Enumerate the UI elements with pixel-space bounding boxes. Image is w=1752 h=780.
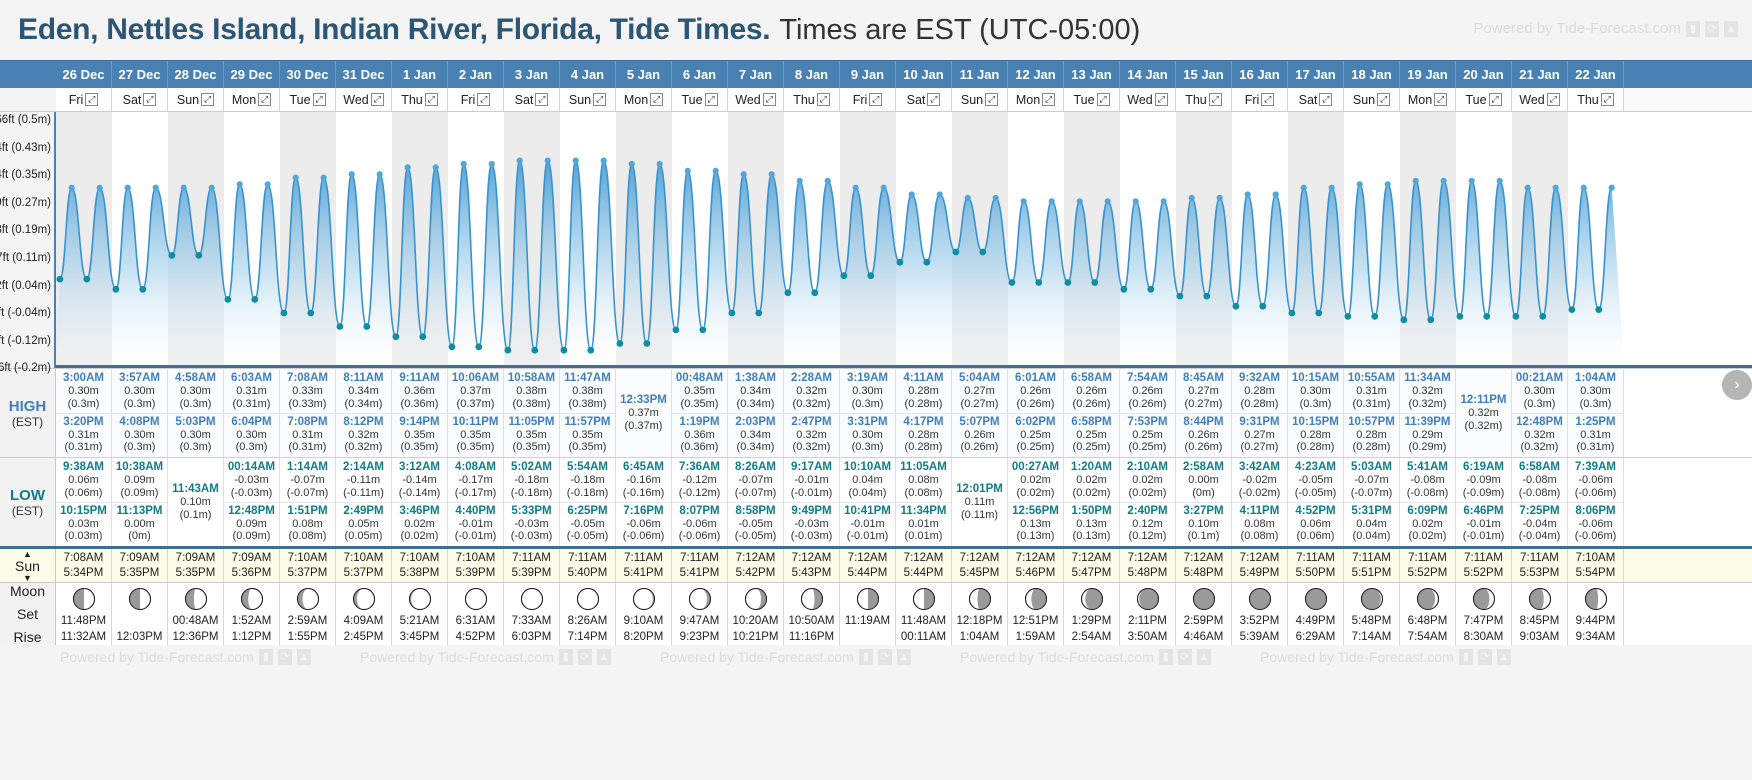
high-tide-cell[interactable]: 10:58AM0.38m(0.38m)11:05PM0.35m(0.35m) [504, 369, 560, 457]
expand-icon[interactable]: ⤢ [985, 93, 998, 106]
high-tide-height: 0.27m [1232, 429, 1287, 442]
expand-icon[interactable]: ⤢ [1042, 93, 1055, 106]
expand-icon[interactable]: ⤢ [425, 93, 438, 106]
date-header-cell[interactable]: 3 Jan [504, 61, 560, 88]
low-tide-height-alt: (0.04m) [840, 487, 895, 500]
sun-cell: 7:11AM5:53PM [1512, 549, 1568, 582]
high-tide-height: 0.35m [392, 429, 447, 442]
low-tide-cell[interactable]: 5:54AM-0.18m(-0.18m)6:25PM-0.05m(-0.05m) [560, 458, 616, 546]
expand-icon[interactable]: ⤢ [650, 93, 663, 106]
low-tide-event: 9:49PM-0.03m(-0.03m) [784, 503, 839, 546]
moonset-label: Set [17, 606, 38, 622]
high-tide-label: HIGH (EST) [0, 369, 56, 457]
low-tide-time: 1:50PM [1064, 505, 1119, 518]
expand-icon[interactable]: ⤢ [1547, 93, 1560, 106]
low-tide-height-alt: (-0.05m) [728, 530, 783, 543]
low-tide-height: 0.02m [1064, 474, 1119, 487]
moonset-time: 6:31AM [456, 615, 496, 627]
low-tide-height: 0.03m [56, 518, 111, 531]
high-tide-time: 8:44PM [1176, 416, 1231, 429]
low-tide-height: -0.01m [448, 518, 503, 531]
date-header-cell[interactable]: 1 Jan [392, 61, 448, 88]
moonrise-time: 8:20PM [624, 631, 664, 643]
expand-icon[interactable]: ⤢ [1601, 93, 1614, 106]
low-tide-cell[interactable]: 00:14AM-0.03m(-0.03m)12:48PM0.09m(0.09m) [224, 458, 280, 546]
high-tide-height-alt: (0.32m) [1512, 441, 1567, 454]
high-tide-cell[interactable]: 11:47AM0.38m(0.38m)11:57PM0.35m(0.35m) [560, 369, 616, 457]
low-tide-event: 3:12AM-0.14m(-0.14m) [392, 459, 447, 503]
expand-icon[interactable]: ⤢ [85, 93, 98, 106]
date-header-cell[interactable]: 31 Dec [336, 61, 392, 88]
high-tide-cell[interactable]: 10:55AM0.31m(0.31m)10:57PM0.28m(0.28m) [1344, 369, 1400, 457]
low-tide-time: 6:25PM [560, 505, 615, 518]
moon-cell: 00:48AM12:36PM [168, 583, 224, 645]
high-tide-cell[interactable]: 3:57AM0.30m(0.3m)4:08PM0.30m(0.3m) [112, 369, 168, 457]
day-of-week-cell[interactable]: Mon⤢ [1008, 88, 1064, 111]
low-tide-height: -0.09m [1456, 474, 1511, 487]
low-tide-event: 9:17AM-0.01m(-0.01m) [784, 459, 839, 503]
sunset-time: 5:54PM [1576, 567, 1616, 579]
high-tide-cell[interactable]: 9:32AM0.28m(0.28m)9:31PM0.27m(0.27m) [1232, 369, 1288, 457]
day-of-week-label: Thu [1577, 93, 1599, 107]
high-tide-cell[interactable]: 10:06AM0.37m(0.37m)10:11PM0.35m(0.35m) [448, 369, 504, 457]
moonset-time: 2:11PM [1128, 615, 1167, 627]
date-header-cell[interactable]: 16 Jan [1232, 61, 1288, 88]
high-tide-event: 6:01AM0.26m(0.26m) [1008, 370, 1063, 414]
expand-icon[interactable]: ⤢ [763, 93, 776, 106]
moon-phase-icon [1416, 587, 1440, 611]
day-of-week-cell[interactable]: Mon⤢ [1400, 88, 1456, 111]
day-of-week-label: Fri [461, 93, 476, 107]
high-tide-time: 5:07PM [952, 416, 1007, 429]
expand-icon[interactable]: ⤢ [1489, 93, 1502, 106]
low-tide-event: 3:46PM0.02m(0.02m) [392, 503, 447, 546]
low-tide-height-alt: (-0.06m) [672, 530, 727, 543]
low-tide-height-alt: (-0.06m) [1568, 487, 1623, 500]
sun-cell: 7:10AM5:37PM [336, 549, 392, 582]
moonrise-time: 11:16PM [789, 631, 834, 643]
low-tide-time: 2:40PM [1120, 505, 1175, 518]
day-of-week-cell[interactable]: Wed⤢ [336, 88, 392, 111]
date-header-cell[interactable]: 14 Jan [1120, 61, 1176, 88]
sunrise-time: 7:11AM [512, 552, 551, 564]
moon-phase-icon [1360, 587, 1384, 611]
low-tide-cell[interactable]: 6:19AM-0.09m(-0.09m)6:46PM-0.01m(-0.01m) [1456, 458, 1512, 546]
low-tide-height: 0.02m [1400, 518, 1455, 531]
high-tide-event: 3:57AM0.30m(0.3m) [112, 370, 167, 414]
high-tide-height-alt: (0.36m) [672, 441, 727, 454]
sun-label: ▲ Sun ▼ [0, 549, 56, 582]
high-tide-event: 00:48AM0.35m(0.35m) [672, 370, 727, 414]
sun-cell: 7:12AM5:48PM [1120, 549, 1176, 582]
high-tide-cell[interactable]: 2:28AM0.32m(0.32m)2:47PM0.32m(0.32m) [784, 369, 840, 457]
high-tide-time: 3:19AM [840, 372, 895, 385]
date-header-cell[interactable]: 18 Jan [1344, 61, 1400, 88]
date-header-cell[interactable]: 11 Jan [952, 61, 1008, 88]
expand-icon[interactable]: ⤢ [535, 93, 548, 106]
moonset-time: 3:52PM [1240, 615, 1280, 627]
date-header-cell[interactable]: 12 Jan [1008, 61, 1064, 88]
expand-icon[interactable]: ⤢ [1209, 93, 1222, 106]
moonset-time: 8:26AM [568, 615, 608, 627]
low-tide-cell[interactable]: 9:38AM0.06m(0.06m)10:15PM0.03m(0.03m) [56, 458, 112, 546]
moonrise-time: 3:45PM [400, 631, 440, 643]
expand-icon[interactable]: ⤢ [1434, 93, 1447, 106]
low-tide-cell[interactable]: 7:39AM-0.06m(-0.06m)8:06PM-0.06m(-0.06m) [1568, 458, 1624, 546]
low-tide-cell[interactable]: 2:10AM0.02m(0.02m)2:40PM0.12m(0.12m) [1120, 458, 1176, 546]
low-tide-cell[interactable]: 11:05AM0.08m(0.08m)11:34PM0.01m(0.01m) [896, 458, 952, 546]
high-tide-cell[interactable]: 10:15AM0.30m(0.3m)10:15PM0.28m(0.28m) [1288, 369, 1344, 457]
sunset-time: 5:40PM [568, 567, 608, 579]
day-of-week-cell[interactable]: Thu⤢ [1568, 88, 1624, 111]
moon-phase-icon [576, 587, 600, 611]
low-tide-event: 10:10AM0.04m(0.04m) [840, 459, 895, 503]
low-tide-event: 11:43AM0.10m(0.1m) [168, 481, 223, 524]
high-tide-height: 0.26m [1176, 429, 1231, 442]
y-axis-tick-label: 1.14ft (0.35m) [0, 169, 51, 181]
low-tide-time: 3:46PM [392, 505, 447, 518]
date-header-cell[interactable]: 15 Jan [1176, 61, 1232, 88]
high-tide-height: 0.26m [1064, 385, 1119, 398]
high-tide-height-alt: (0.25m) [1064, 441, 1119, 454]
low-tide-height: 0.06m [56, 474, 111, 487]
moonrise-time: 1:12PM [232, 631, 272, 643]
low-tide-height-alt: (-0.03m) [784, 530, 839, 543]
moon-phase-icon [912, 587, 936, 611]
low-tide-cell[interactable]: 6:45AM-0.16m(-0.16m)7:16PM-0.06m(-0.06m) [616, 458, 672, 546]
moon-phase-icon [856, 587, 880, 611]
expand-icon[interactable]: ⤢ [593, 93, 606, 106]
moonset-time: 5:21AM [400, 615, 440, 627]
low-tide-cell[interactable]: 10:38AM0.09m(0.09m)11:13PM0.00m(0m) [112, 458, 168, 546]
high-tide-cell[interactable]: 6:01AM0.26m(0.26m)6:02PM0.25m(0.25m) [1008, 369, 1064, 457]
expand-icon[interactable]: ⤢ [1377, 93, 1390, 106]
date-header-cell[interactable]: 9 Jan [840, 61, 896, 88]
high-tide-time: 00:48AM [672, 372, 727, 385]
expand-icon[interactable]: ⤢ [1097, 93, 1110, 106]
date-header-cell[interactable]: 10 Jan [896, 61, 952, 88]
scroll-next-button[interactable]: › [1722, 370, 1752, 400]
sun-cell: 7:12AM5:48PM [1176, 549, 1232, 582]
low-tide-time: 5:31PM [1344, 505, 1399, 518]
low-tide-time: 2:10AM [1120, 461, 1175, 474]
high-tide-row: HIGH (EST) 3:00AM0.30m(0.3m)3:20PM0.31m(… [0, 368, 1752, 457]
sunset-time: 5:52PM [1464, 567, 1504, 579]
high-tide-label-text: HIGH [9, 398, 47, 415]
low-tide-cell[interactable]: 7:36AM-0.12m(-0.12m)8:07PM-0.06m(-0.06m) [672, 458, 728, 546]
date-header-cell[interactable]: 30 Dec [280, 61, 336, 88]
low-tide-height: 0.11m [952, 496, 1007, 509]
high-tide-cell[interactable]: 8:11AM0.34m(0.34m)8:12PM0.32m(0.32m) [336, 369, 392, 457]
high-tide-time: 8:12PM [336, 416, 391, 429]
low-tide-time: 2:58AM [1176, 461, 1231, 474]
high-tide-event: 8:11AM0.34m(0.34m) [336, 370, 391, 414]
date-header-cell[interactable]: 19 Jan [1400, 61, 1456, 88]
low-tide-height-alt: (0.05m) [336, 530, 391, 543]
moonrise-time: 5:39AM [1240, 631, 1280, 643]
low-tide-cell[interactable]: 3:12AM-0.14m(-0.14m)3:46PM0.02m(0.02m) [392, 458, 448, 546]
high-tide-cell[interactable]: 12:11PM0.32m(0.32m) [1456, 369, 1512, 457]
low-tide-time: 5:41AM [1400, 461, 1455, 474]
high-tide-height-alt: (0.3m) [56, 398, 111, 411]
day-of-week-cell[interactable]: Sun⤢ [1344, 88, 1400, 111]
sunset-time: 5:45PM [960, 567, 1000, 579]
day-of-week-label: Sat [1299, 93, 1318, 107]
low-tide-cell[interactable]: 8:26AM-0.07m(-0.07m)8:58PM-0.05m(-0.05m) [728, 458, 784, 546]
moonrise-time: 2:45PM [344, 631, 384, 643]
day-of-week-cell[interactable]: Fri⤢ [448, 88, 504, 111]
high-tide-cell[interactable]: 3:19AM0.30m(0.3m)3:31PM0.30m(0.3m) [840, 369, 896, 457]
expand-icon[interactable]: ⤢ [313, 93, 326, 106]
date-header-cell[interactable]: 5 Jan [616, 61, 672, 88]
high-tide-event: 10:15PM0.28m(0.28m) [1288, 414, 1343, 457]
high-tide-height-alt: (0.27m) [952, 398, 1007, 411]
date-header-cell[interactable]: 26 Dec [56, 61, 112, 88]
day-of-week-label: Sun [961, 93, 983, 107]
day-of-week-cell[interactable]: Sun⤢ [168, 88, 224, 111]
expand-icon[interactable]: ⤢ [201, 93, 214, 106]
chart-plot-area[interactable] [56, 112, 1752, 368]
high-tide-height: 0.28m [1288, 429, 1343, 442]
high-tide-event: 11:05PM0.35m(0.35m) [504, 414, 559, 457]
day-of-week-cell[interactable]: Fri⤢ [1232, 88, 1288, 111]
expand-icon[interactable]: ⤢ [143, 93, 156, 106]
low-tide-cell[interactable]: 00:27AM0.02m(0.02m)12:56PM0.13m(0.13m) [1008, 458, 1064, 546]
high-tide-cell[interactable]: 00:48AM0.35m(0.35m)1:19PM0.36m(0.36m) [672, 369, 728, 457]
day-of-week-cell[interactable]: Fri⤢ [840, 88, 896, 111]
warning-icon: ▲ [597, 649, 611, 665]
day-of-week-cell[interactable]: Wed⤢ [1120, 88, 1176, 111]
day-of-week-cell[interactable]: Thu⤢ [1176, 88, 1232, 111]
chart-icon: ▮ [259, 649, 273, 665]
low-tide-cell[interactable]: 1:20AM0.02m(0.02m)1:50PM0.13m(0.13m) [1064, 458, 1120, 546]
day-of-week-cell[interactable]: Mon⤢ [224, 88, 280, 111]
day-of-week-cell[interactable]: Tue⤢ [280, 88, 336, 111]
low-tide-event: 12:48PM0.09m(0.09m) [224, 503, 279, 546]
high-tide-time: 9:32AM [1232, 372, 1287, 385]
high-tide-height: 0.30m [112, 385, 167, 398]
low-tide-cell[interactable]: 9:17AM-0.01m(-0.01m)9:49PM-0.03m(-0.03m) [784, 458, 840, 546]
high-tide-event: 1:25PM0.31m(0.31m) [1568, 414, 1623, 457]
low-tide-cell[interactable]: 5:03AM-0.07m(-0.07m)5:31PM0.04m(0.04m) [1344, 458, 1400, 546]
date-header-cell[interactable]: 6 Jan [672, 61, 728, 88]
moonset-time: 11:48PM [61, 615, 106, 627]
date-header-cell[interactable]: 28 Dec [168, 61, 224, 88]
day-of-week-cell[interactable]: Sat⤢ [112, 88, 168, 111]
expand-icon[interactable]: ⤢ [1319, 93, 1332, 106]
date-header-cell[interactable]: 20 Jan [1456, 61, 1512, 88]
expand-icon[interactable]: ⤢ [258, 93, 271, 106]
day-of-week-cell[interactable]: Mon⤢ [616, 88, 672, 111]
day-of-week-cell[interactable]: Sat⤢ [504, 88, 560, 111]
day-of-week-cell[interactable]: Tue⤢ [1456, 88, 1512, 111]
moon-phase-icon [408, 587, 432, 611]
sunset-time: 5:43PM [792, 567, 832, 579]
high-tide-cell[interactable]: 4:58AM0.30m(0.3m)5:03PM0.30m(0.3m) [168, 369, 224, 457]
low-tide-height: -0.01m [840, 518, 895, 531]
refresh-icon: ⟳ [278, 649, 292, 665]
high-tide-height: 0.30m [168, 429, 223, 442]
high-tide-cell[interactable]: 8:45AM0.27m(0.27m)8:44PM0.26m(0.26m) [1176, 369, 1232, 457]
date-header-cell[interactable]: 13 Jan [1064, 61, 1120, 88]
sunset-time: 5:41PM [680, 567, 720, 579]
powered-by-watermark: Powered by Tide-Forecast.com▮⟳▲ [660, 649, 911, 665]
low-tide-height-alt: (-0.08m) [1400, 487, 1455, 500]
date-header-cell[interactable]: 17 Jan [1288, 61, 1344, 88]
low-tide-cell[interactable]: 5:02AM-0.18m(-0.18m)5:33PM-0.03m(-0.03m) [504, 458, 560, 546]
high-tide-cell[interactable]: 4:11AM0.28m(0.28m)4:17PM0.28m(0.28m) [896, 369, 952, 457]
high-tide-height-alt: (0.3m) [1568, 398, 1623, 411]
high-tide-height-alt: (0.26m) [1064, 398, 1119, 411]
low-tide-cell[interactable]: 10:10AM0.04m(0.04m)10:41PM-0.01m(-0.01m) [840, 458, 896, 546]
high-tide-time: 4:17PM [896, 416, 951, 429]
warning-icon: ▲ [1197, 649, 1211, 665]
date-header-cell[interactable]: 8 Jan [784, 61, 840, 88]
low-tide-height: 0.08m [896, 474, 951, 487]
moonset-time: 5:48PM [1352, 615, 1392, 627]
low-tide-cell[interactable]: 6:58AM-0.08m(-0.08m)7:25PM-0.04m(-0.04m) [1512, 458, 1568, 546]
sunset-time: 5:51PM [1352, 567, 1392, 579]
sunset-time: 5:52PM [1408, 567, 1448, 579]
low-tide-event: 2:49PM0.05m(0.05m) [336, 503, 391, 546]
moon-cell: 3:52PM5:39AM [1232, 583, 1288, 645]
high-tide-height: 0.31m [1344, 385, 1399, 398]
low-tide-cell[interactable]: 4:08AM-0.17m(-0.17m)4:40PM-0.01m(-0.01m) [448, 458, 504, 546]
low-tide-height: 0.08m [1232, 518, 1287, 531]
low-tide-cell[interactable]: 3:42AM-0.02m(-0.02m)4:11PM0.08m(0.08m) [1232, 458, 1288, 546]
day-of-week-cell[interactable]: Thu⤢ [392, 88, 448, 111]
low-tide-height-alt: (0.02m) [1400, 530, 1455, 543]
warning-icon: ▲ [1497, 649, 1511, 665]
low-tide-time: 3:27PM [1176, 505, 1231, 518]
low-tide-height-alt: (0.02m) [1120, 487, 1175, 500]
low-tide-cell[interactable]: 2:58AM0.00m(0m)3:27PM0.10m(0.1m) [1176, 458, 1232, 546]
low-tide-event: 6:45AM-0.16m(-0.16m) [616, 459, 671, 503]
date-header-cell[interactable]: 21 Jan [1512, 61, 1568, 88]
date-header-cell[interactable]: 4 Jan [560, 61, 616, 88]
moon-cell: 11:48PM11:32AM [56, 583, 112, 645]
high-tide-cell[interactable]: 3:00AM0.30m(0.3m)3:20PM0.31m(0.31m) [56, 369, 112, 457]
day-of-week-cell[interactable]: Tue⤢ [1064, 88, 1120, 111]
day-of-week-cell[interactable]: Fri⤢ [56, 88, 112, 111]
low-tide-height-alt: (-0.16m) [616, 487, 671, 500]
moon-cell: 5:21AM3:45PM [392, 583, 448, 645]
high-tide-cell[interactable]: 5:04AM0.27m(0.27m)5:07PM0.26m(0.26m) [952, 369, 1008, 457]
high-tide-time: 00:21AM [1512, 372, 1567, 385]
low-tide-height-alt: (0m) [1176, 487, 1231, 500]
tide-forecast-page: Eden, Nettles Island, Indian River, Flor… [0, 0, 1752, 780]
moon-phase-icon [968, 587, 992, 611]
high-tide-time: 5:03PM [168, 416, 223, 429]
low-tide-cell[interactable]: 12:01PM0.11m(0.11m) [952, 458, 1008, 546]
expand-icon[interactable]: ⤢ [705, 93, 718, 106]
low-tide-cell[interactable]: 4:23AM-0.05m(-0.05m)4:52PM0.06m(0.06m) [1288, 458, 1344, 546]
expand-icon[interactable]: ⤢ [817, 93, 830, 106]
date-header-cell[interactable]: 7 Jan [728, 61, 784, 88]
low-tide-height-alt: (-0.08m) [1512, 487, 1567, 500]
low-tide-event: 5:33PM-0.03m(-0.03m) [504, 503, 559, 546]
low-tide-cell[interactable]: 5:41AM-0.08m(-0.08m)6:09PM0.02m(0.02m) [1400, 458, 1456, 546]
low-tide-event: 7:25PM-0.04m(-0.04m) [1512, 503, 1567, 546]
day-of-week-cell[interactable]: Wed⤢ [1512, 88, 1568, 111]
low-tide-height-alt: (-0.01m) [448, 530, 503, 543]
sunrise-time: 7:10AM [288, 552, 328, 564]
high-tide-cell[interactable]: 1:38AM0.34m(0.34m)2:03PM0.34m(0.34m) [728, 369, 784, 457]
low-tide-cell[interactable]: 11:43AM0.10m(0.1m) [168, 458, 224, 546]
expand-icon[interactable]: ⤢ [1261, 93, 1274, 106]
high-tide-event: 10:11PM0.35m(0.35m) [448, 414, 503, 457]
tide-curve [56, 112, 1624, 365]
high-tide-cell[interactable]: 12:33PM0.37m(0.37m) [616, 369, 672, 457]
day-of-week-cell[interactable]: Tue⤢ [672, 88, 728, 111]
low-tide-height: 0.10m [1176, 518, 1231, 531]
high-tide-cell[interactable]: 7:08AM0.33m(0.33m)7:08PM0.31m(0.31m) [280, 369, 336, 457]
day-of-week-cell[interactable]: Sat⤢ [1288, 88, 1344, 111]
sunset-time: 5:38PM [400, 567, 440, 579]
low-tide-height-alt: (-0.09m) [1456, 487, 1511, 500]
expand-icon[interactable]: ⤢ [869, 93, 882, 106]
high-tide-height: 0.26m [1008, 385, 1063, 398]
high-tide-cell[interactable]: 6:03AM0.31m(0.31m)6:04PM0.30m(0.3m) [224, 369, 280, 457]
sun-cell: 7:10AM5:39PM [448, 549, 504, 582]
low-tide-height-alt: (-0.17m) [448, 487, 503, 500]
sun-cell: 7:12AM5:46PM [1008, 549, 1064, 582]
sun-cell: 7:09AM5:36PM [224, 549, 280, 582]
high-tide-cell[interactable]: 11:34AM0.32m(0.32m)11:39PM0.29m(0.29m) [1400, 369, 1456, 457]
high-tide-time: 4:11AM [896, 372, 951, 385]
sunset-time: 5:36PM [232, 567, 272, 579]
high-tide-height: 0.38m [560, 385, 615, 398]
sunset-time: 5:35PM [176, 567, 216, 579]
date-header-cell[interactable]: 2 Jan [448, 61, 504, 88]
low-tide-event: 3:42AM-0.02m(-0.02m) [1232, 459, 1287, 503]
day-of-week-cell[interactable]: Wed⤢ [728, 88, 784, 111]
high-tide-cell[interactable]: 7:54AM0.26m(0.26m)7:53PM0.25m(0.25m) [1120, 369, 1176, 457]
expand-icon[interactable]: ⤢ [477, 93, 490, 106]
high-tide-time: 12:33PM [616, 394, 671, 407]
low-tide-height-alt: (-0.05m) [1288, 487, 1343, 500]
high-tide-cell[interactable]: 6:58AM0.26m(0.26m)6:58PM0.25m(0.25m) [1064, 369, 1120, 457]
expand-icon[interactable]: ⤢ [371, 93, 384, 106]
expand-icon[interactable]: ⤢ [1155, 93, 1168, 106]
high-tide-height-alt: (0.28m) [896, 441, 951, 454]
high-tide-height-alt: (0.28m) [1288, 441, 1343, 454]
day-of-week-cell[interactable]: Sat⤢ [896, 88, 952, 111]
day-of-week-cell[interactable]: Sun⤢ [560, 88, 616, 111]
low-tide-cell[interactable]: 2:14AM-0.11m(-0.11m)2:49PM0.05m(0.05m) [336, 458, 392, 546]
date-header-cell[interactable]: 29 Dec [224, 61, 280, 88]
sun-cell: 7:08AM5:34PM [56, 549, 112, 582]
high-tide-time: 4:58AM [168, 372, 223, 385]
date-header-cell[interactable]: 22 Jan [1568, 61, 1624, 88]
low-tide-event: 12:01PM0.11m(0.11m) [952, 481, 1007, 524]
moon-cell: 4:09AM2:45PM [336, 583, 392, 645]
low-tide-event: 6:09PM0.02m(0.02m) [1400, 503, 1455, 546]
date-header-cell[interactable]: 27 Dec [112, 61, 168, 88]
chart-icon: ▮ [1686, 21, 1700, 37]
low-tide-cell[interactable]: 1:14AM-0.07m(-0.07m)1:51PM0.08m(0.08m) [280, 458, 336, 546]
high-tide-cell[interactable]: 1:04AM0.30m(0.3m)1:25PM0.31m(0.31m) [1568, 369, 1624, 457]
high-tide-cell[interactable]: 00:21AM0.30m(0.3m)12:48PM0.32m(0.32m) [1512, 369, 1568, 457]
expand-icon[interactable]: ⤢ [927, 93, 940, 106]
sunrise-time: 7:11AM [1520, 552, 1559, 564]
sunrise-time: 7:12AM [1016, 552, 1056, 564]
high-tide-cell[interactable]: 9:11AM0.36m(0.36m)9:14PM0.35m(0.35m) [392, 369, 448, 457]
low-tide-height-alt: (0.04m) [1344, 530, 1399, 543]
low-tide-event: 2:58AM0.00m(0m) [1176, 459, 1231, 503]
day-of-week-cell[interactable]: Thu⤢ [784, 88, 840, 111]
day-of-week-cell[interactable]: Sun⤢ [952, 88, 1008, 111]
